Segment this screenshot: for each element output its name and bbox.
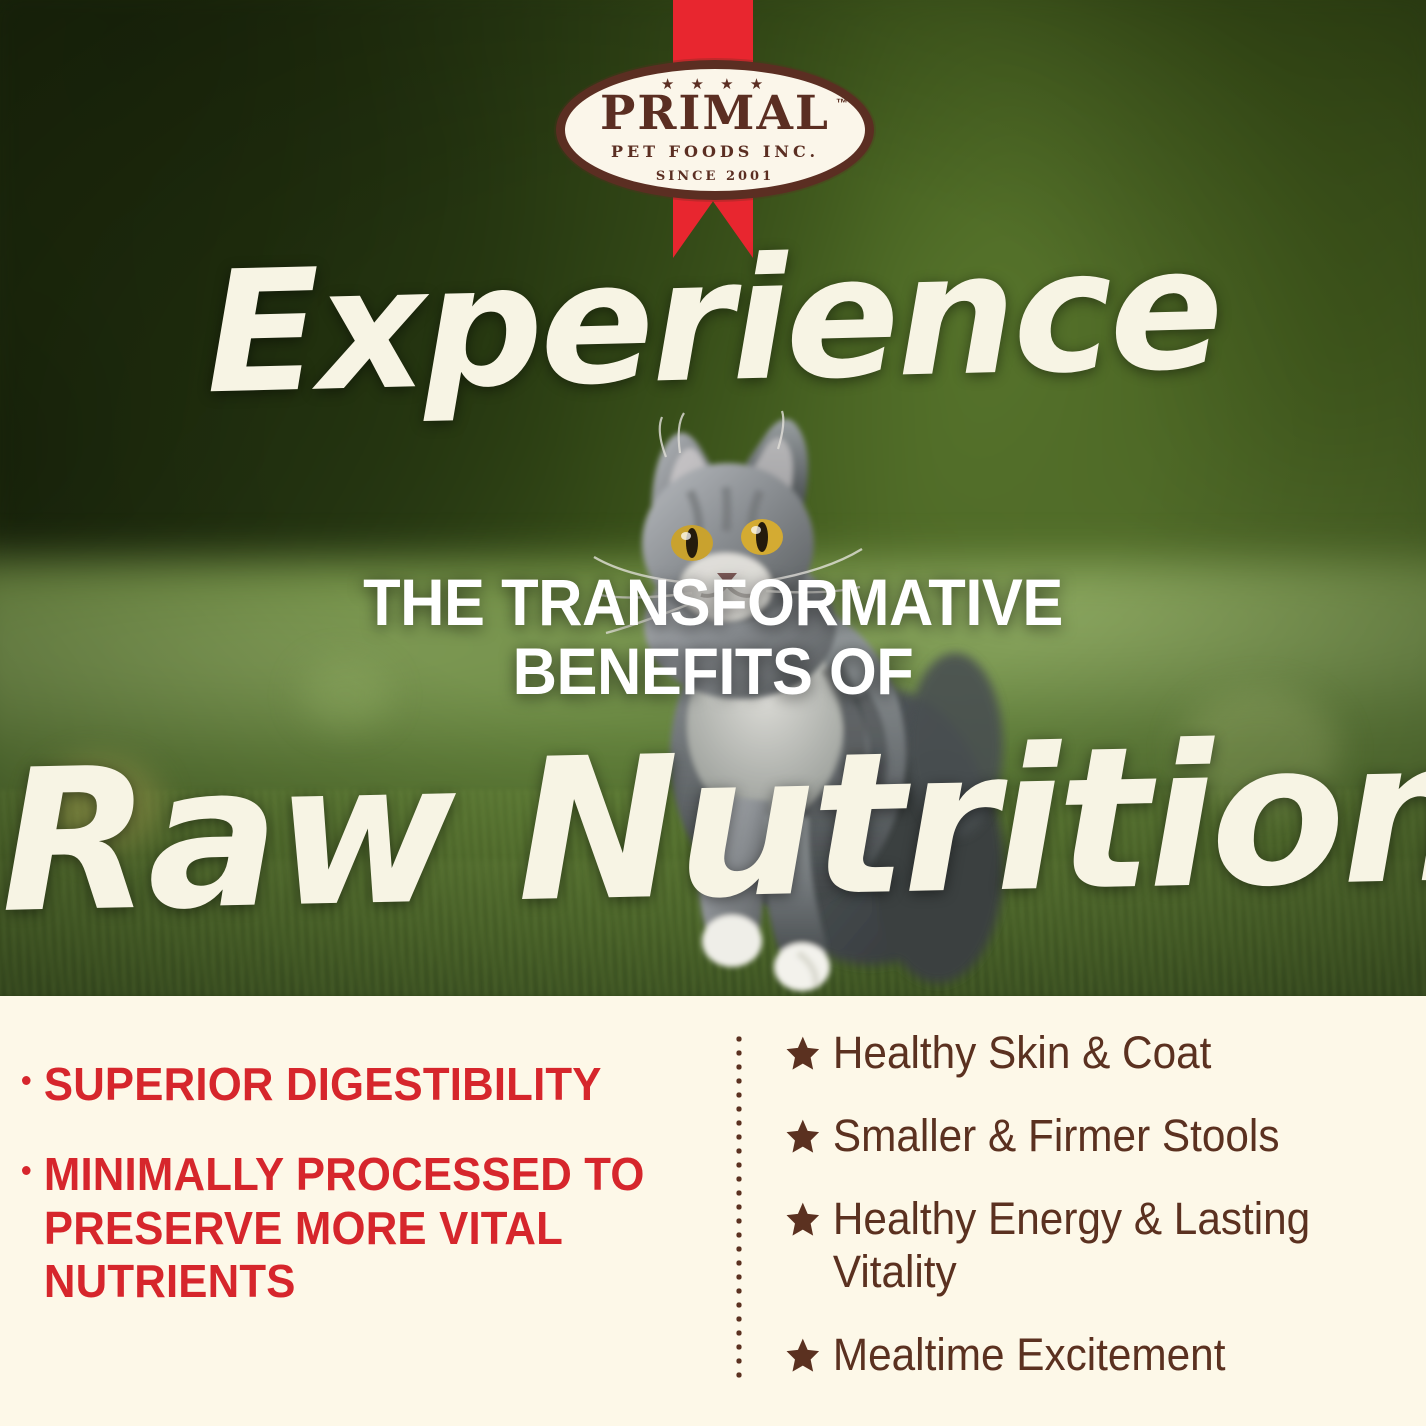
list-item: Healthy Energy & Lasting Vitality: [784, 1192, 1376, 1298]
hero-headline-line-1: THE TRANSFORMATIVE: [50, 568, 1376, 637]
star-bullet-icon: [784, 1034, 822, 1074]
benefit-right-label: Healthy Skin & Coat: [833, 1026, 1212, 1079]
list-item: SUPERIOR DIGESTIBILITY: [22, 1058, 649, 1112]
trademark-symbol: ™: [836, 96, 848, 110]
star-bullet-icon: [784, 1117, 822, 1157]
benefit-left-label: MINIMALLY PROCESSED TO PRESERVE MORE VIT…: [44, 1148, 649, 1309]
benefit-right-label: Mealtime Excitement: [833, 1328, 1226, 1381]
dot-bullet-icon: [22, 1076, 31, 1085]
hero-headline-line-2: BENEFITS OF: [50, 637, 1376, 706]
benefits-right-column: Healthy Skin & Coat Smaller & Firmer Sto…: [784, 1026, 1414, 1411]
benefit-right-label: Smaller & Firmer Stools: [833, 1109, 1280, 1162]
benefits-left-column: SUPERIOR DIGESTIBILITY MINIMALLY PROCESS…: [22, 1058, 682, 1345]
hero-headline: THE TRANSFORMATIVE BENEFITS OF: [50, 568, 1376, 705]
benefit-left-label: SUPERIOR DIGESTIBILITY: [44, 1058, 602, 1112]
list-item: Smaller & Firmer Stools: [784, 1109, 1376, 1162]
dotted-divider: [736, 1032, 742, 1380]
star-bullet-icon: [784, 1336, 822, 1376]
benefits-panel: SUPERIOR DIGESTIBILITY MINIMALLY PROCESS…: [0, 996, 1426, 1426]
hero-photo: ★ ★ ★ ★ PRIMAL ™ PET FOODS INC. SINCE 20…: [0, 0, 1426, 996]
list-item: MINIMALLY PROCESSED TO PRESERVE MORE VIT…: [22, 1148, 649, 1309]
hero-script-experience: Experience: [0, 229, 1426, 415]
primal-logo: ★ ★ ★ ★ PRIMAL ™ PET FOODS INC. SINCE 20…: [556, 60, 874, 200]
primal-raw-nutrition-poster: ★ ★ ★ ★ PRIMAL ™ PET FOODS INC. SINCE 20…: [0, 0, 1426, 1426]
star-bullet-icon: [784, 1200, 822, 1240]
logo-wordmark: PRIMAL: [556, 90, 874, 137]
list-item: Mealtime Excitement: [784, 1328, 1376, 1381]
benefit-right-label: Healthy Energy & Lasting Vitality: [833, 1192, 1376, 1298]
dot-bullet-icon: [22, 1166, 31, 1175]
logo-since-text: SINCE 2001: [556, 170, 874, 183]
logo-subtitle: PET FOODS INC.: [556, 144, 874, 160]
hero-script-raw-nutrition: Raw Nutrition: [0, 725, 1426, 931]
list-item: Healthy Skin & Coat: [784, 1026, 1376, 1079]
